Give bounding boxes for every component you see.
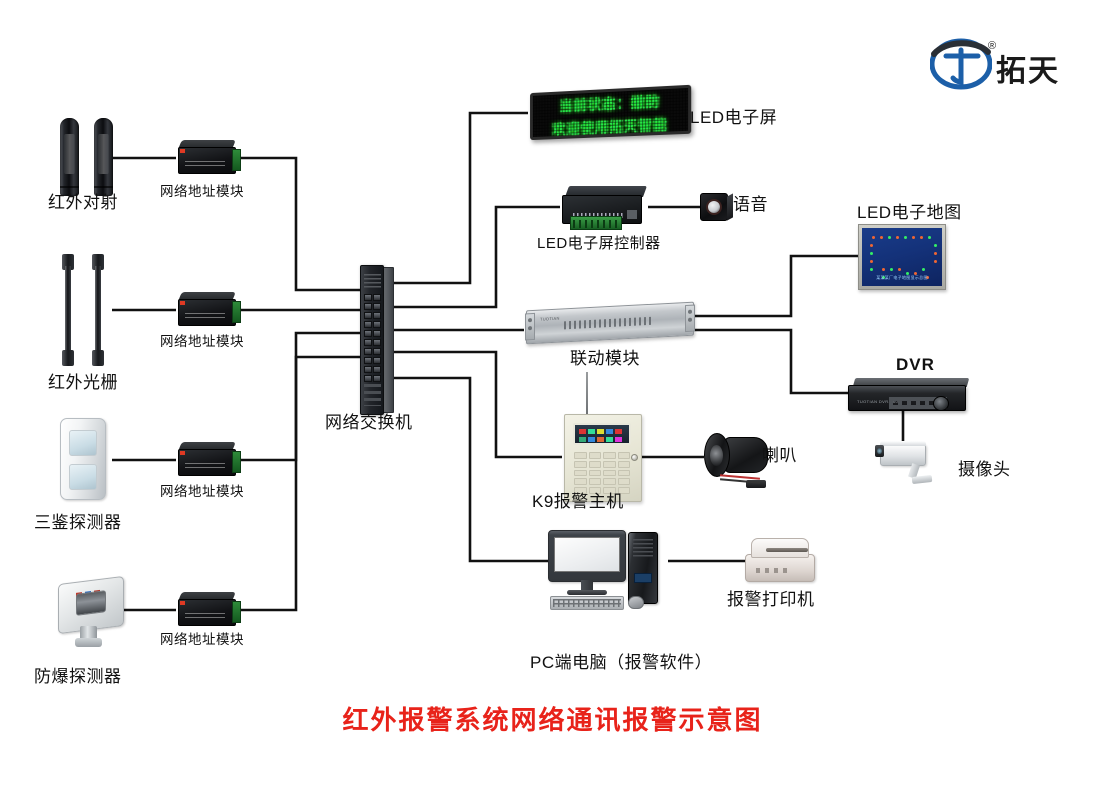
- network-switch-icon: [360, 265, 394, 415]
- network-address-module-icon: [178, 140, 238, 176]
- brand-name: 拓天: [996, 46, 1060, 90]
- wire-module3-to-switch: [237, 333, 360, 460]
- network-address-module-icon: [178, 442, 238, 478]
- ir-beam-device: [60, 118, 122, 198]
- diagram-canvas: 红外对射 红外光栅 三鉴探测器 防爆探测器 网络地址模块 网络地址模块 网络地址…: [0, 0, 1105, 800]
- wire-switch-to-k9: [394, 352, 562, 457]
- addr-module-3-label: 网络地址模块: [160, 480, 244, 500]
- ir-grating-device: [62, 254, 118, 368]
- diagram-title: 红外报警系统网络通讯报警示意图: [0, 700, 1105, 737]
- explosion-detector-label: 防爆探测器: [34, 662, 122, 687]
- wire-module1-to-switch: [237, 158, 360, 290]
- brand-logo: ® 拓天: [930, 38, 1090, 94]
- dvr-icon: TUOTIAN DVR-1604: [848, 378, 972, 412]
- addr-module-4-label: 网络地址模块: [160, 628, 244, 648]
- led-map-label: LED电子地图: [857, 198, 962, 223]
- led-map-icon: 某某某厂电子地图显示总图: [858, 224, 946, 290]
- wire-linkage-to-dvr: [694, 330, 848, 393]
- triple-detector-label: 三鉴探测器: [34, 508, 122, 533]
- led-display-icon: 当前状态：撤防 欢迎使用拓天智能: [530, 85, 691, 140]
- addr-module-1-label: 网络地址模块: [160, 180, 244, 200]
- registered-mark: ®: [988, 40, 996, 52]
- pir-detector-icon: [60, 418, 106, 500]
- ir-beam-tower-icon: [94, 118, 113, 196]
- wire-switch-to-led-sign: [394, 113, 528, 283]
- ir-beam-label: 红外对射: [48, 188, 118, 213]
- explosion-proof-detector-icon: [54, 576, 132, 648]
- wire-switch-to-led-controller: [394, 207, 560, 307]
- led-sign-label: LED电子屏: [690, 103, 777, 128]
- desktop-computer-icon: [548, 530, 668, 612]
- wire-switch-to-pc: [394, 378, 548, 561]
- printer-label: 报警打印机: [727, 585, 815, 610]
- led-controller-label: LED电子屏控制器: [537, 232, 661, 253]
- wire-linkage-to-ledmap: [694, 256, 858, 316]
- wire-module4-to-switch: [237, 357, 360, 610]
- horn-label: 喇叭: [762, 441, 797, 466]
- ir-grating-icon: [92, 254, 104, 366]
- network-address-module-icon: [178, 292, 238, 328]
- dvr-label: DVR: [896, 355, 935, 375]
- ir-beam-tower-icon: [60, 118, 79, 196]
- ir-grating-label: 红外光栅: [48, 368, 118, 393]
- camera-label: 摄像头: [958, 455, 1011, 480]
- led-controller-icon: [562, 186, 648, 226]
- led-map-caption: 某某某厂电子地图显示总图: [862, 275, 942, 281]
- tuotian-swoosh-logo-icon: [930, 38, 992, 90]
- voice-speaker-icon: [700, 193, 728, 221]
- switch-label: 网络交换机: [325, 408, 413, 433]
- cctv-camera-icon: [874, 440, 940, 486]
- pc-label: PC端电脑（报警软件）: [530, 648, 712, 673]
- voice-label: 语音: [733, 190, 768, 215]
- network-address-module-icon: [178, 592, 238, 628]
- addr-module-2-label: 网络地址模块: [160, 330, 244, 350]
- k9-host-label: K9报警主机: [532, 487, 624, 512]
- printer-icon: [745, 538, 815, 582]
- linkage-module-label: 联动模块: [570, 344, 640, 369]
- ir-grating-icon: [62, 254, 74, 366]
